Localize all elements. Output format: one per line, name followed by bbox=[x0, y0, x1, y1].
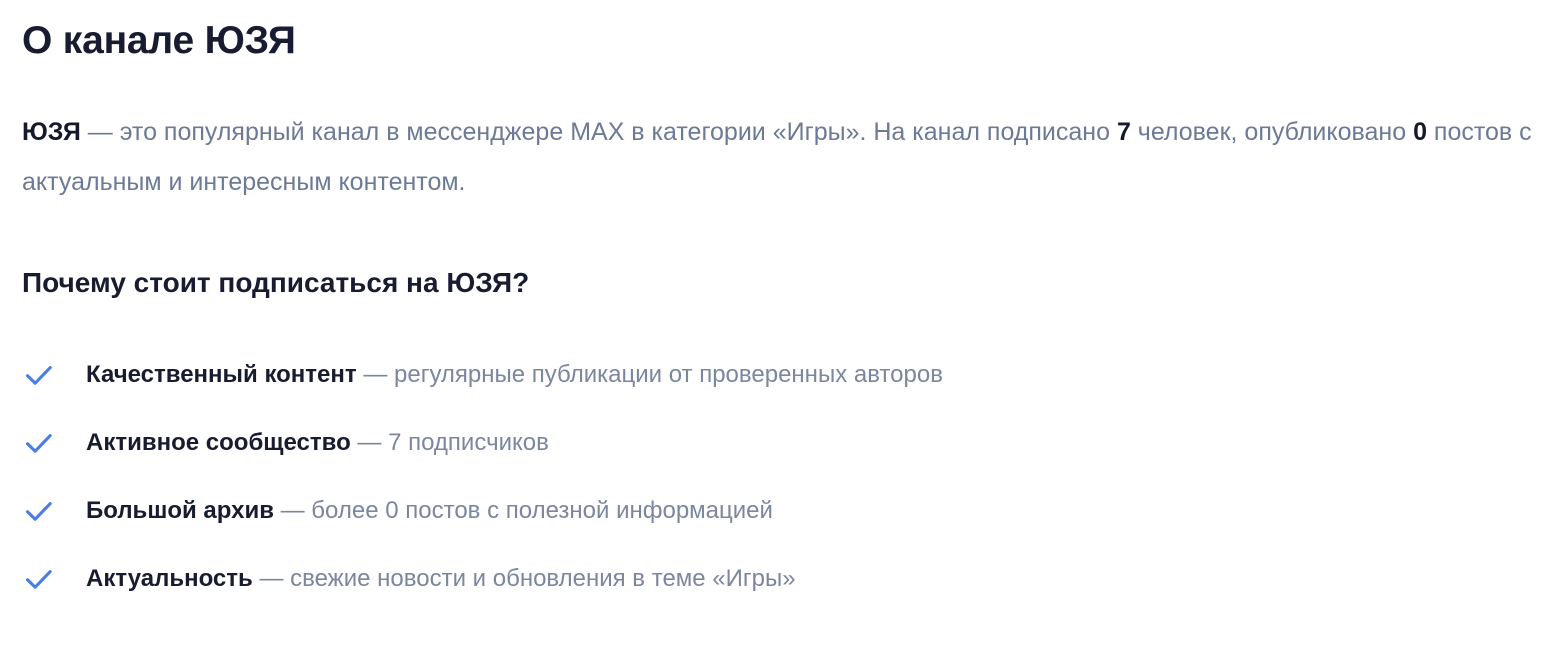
benefit-dash: — bbox=[351, 431, 388, 455]
check-icon bbox=[22, 426, 56, 460]
subscribers-count: 7 bbox=[1117, 118, 1131, 146]
benefit-description: 7 подписчиков bbox=[388, 431, 549, 455]
check-icon bbox=[22, 494, 56, 528]
channel-name: ЮЗЯ bbox=[22, 118, 81, 146]
benefit-label: Качественный контент bbox=[86, 363, 357, 387]
benefit-dash: — bbox=[274, 499, 311, 523]
benefit-dash: — bbox=[357, 363, 394, 387]
list-item: Активное сообщество — 7 подписчиков bbox=[22, 409, 1540, 477]
posts-count: 0 bbox=[1413, 118, 1427, 146]
check-icon bbox=[22, 358, 56, 392]
about-channel-page: О канале ЮЗЯ ЮЗЯ — это популярный канал … bbox=[0, 0, 1562, 654]
benefit-description: регулярные публикации от проверенных авт… bbox=[394, 363, 943, 387]
channel-description: ЮЗЯ — это популярный канал в мессенджере… bbox=[22, 60, 1540, 207]
list-item: Качественный контент — регулярные публик… bbox=[22, 341, 1540, 409]
benefit-description: более 0 постов с полезной информацией bbox=[311, 499, 773, 523]
list-item: Большой архив — более 0 постов с полезно… bbox=[22, 477, 1540, 545]
benefit-label: Большой архив bbox=[86, 499, 274, 523]
benefit-description: свежие новости и обновления в теме «Игры… bbox=[290, 567, 795, 591]
benefit-dash: — bbox=[253, 567, 290, 591]
section-title-why-subscribe: Почему стоит подписаться на ЮЗЯ? bbox=[22, 207, 1540, 297]
description-part-2: человек, опубликовано bbox=[1131, 118, 1413, 146]
page-title: О канале ЮЗЯ bbox=[22, 0, 1540, 60]
benefit-label: Актуальность bbox=[86, 567, 253, 591]
check-icon bbox=[22, 562, 56, 596]
description-part-1: — это популярный канал в мессенджере MAX… bbox=[81, 118, 1117, 146]
list-item: Актуальность — свежие новости и обновлен… bbox=[22, 545, 1540, 613]
benefit-label: Активное сообщество bbox=[86, 431, 351, 455]
benefits-list: Качественный контент — регулярные публик… bbox=[22, 297, 1540, 613]
